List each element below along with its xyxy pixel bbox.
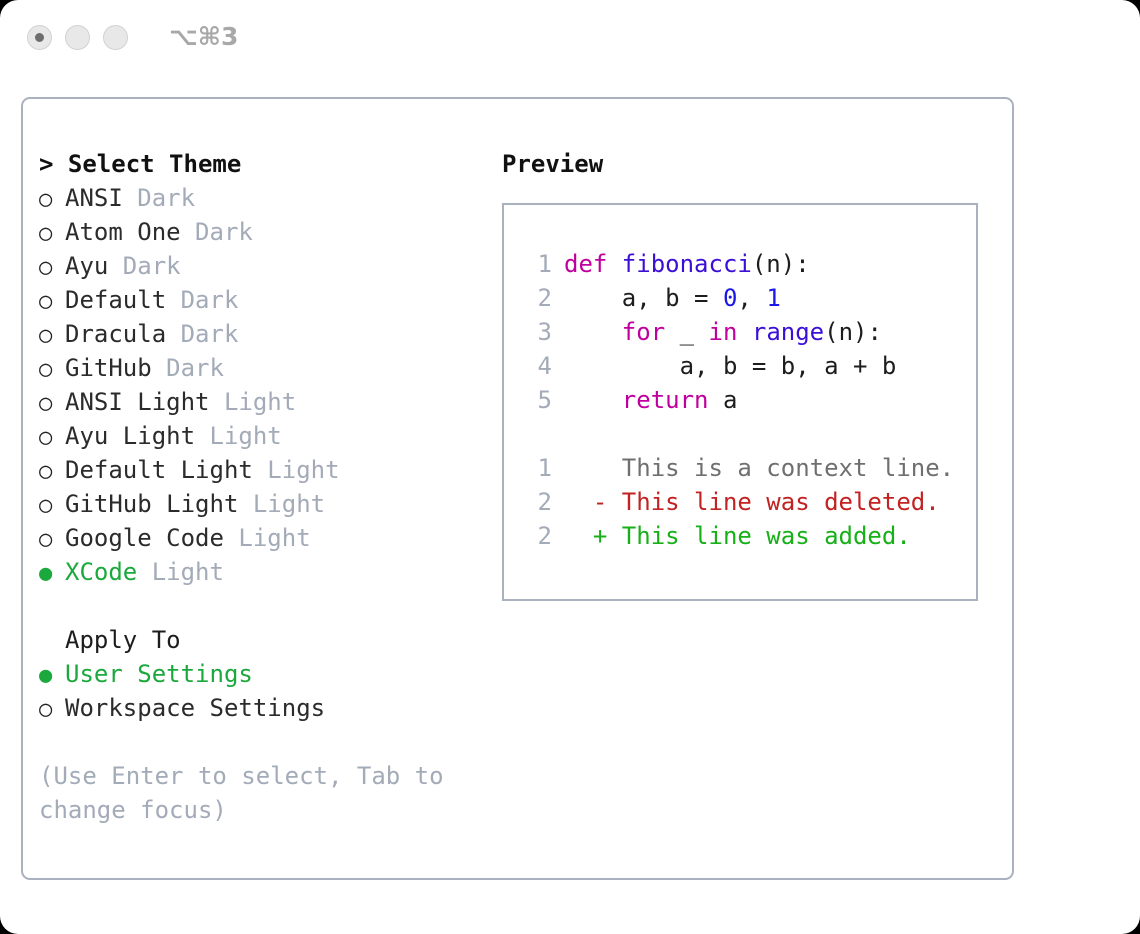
code-token: return — [564, 383, 709, 417]
theme-option-tag: Light — [253, 453, 340, 487]
radio-unselected-icon: ○ — [39, 693, 65, 727]
theme-option-tag: Light — [210, 385, 297, 419]
traffic-light-second[interactable] — [65, 25, 90, 50]
code-token: (n): — [824, 315, 882, 349]
theme-option-default-light[interactable]: ○Default Light Light — [39, 453, 479, 487]
code-line: 2 a, b = 0, 1 — [522, 281, 976, 315]
theme-option-ayu[interactable]: ○Ayu Dark — [39, 249, 479, 283]
radio-unselected-icon: ○ — [39, 183, 65, 217]
diff-marker — [564, 451, 622, 485]
code-token: 0 — [723, 281, 737, 315]
radio-unselected-icon: ○ — [39, 319, 65, 353]
radio-unselected-icon: ○ — [39, 489, 65, 523]
list-spacer — [39, 589, 479, 623]
diff-line: 1 This is a context line. — [522, 451, 976, 485]
keyboard-shortcut-label: ⌥⌘3 — [169, 22, 238, 51]
code-line-number: 4 — [522, 349, 552, 383]
diff-line-number: 2 — [522, 485, 552, 519]
code-line: 1def fibonacci(n): — [522, 247, 976, 281]
apply-to-option-list: ●User Settings○Workspace Settings — [39, 657, 479, 725]
theme-option-list: ○ANSI Dark○Atom One Dark○Ayu Dark○Defaul… — [39, 181, 479, 589]
theme-option-label: Default Light — [65, 453, 253, 487]
keyboard-hint-text: (Use Enter to select, Tab to change focu… — [39, 759, 449, 827]
theme-option-label: GitHub Light — [65, 487, 238, 521]
radio-unselected-icon: ○ — [39, 387, 65, 421]
theme-option-tag: Dark — [152, 351, 224, 385]
radio-selected-icon: ● — [39, 659, 65, 693]
theme-option-tag: Light — [224, 521, 311, 555]
theme-option-label: ANSI — [65, 181, 123, 215]
theme-option-label: Default — [65, 283, 166, 317]
theme-option-label: Atom One — [65, 215, 181, 249]
radio-unselected-icon: ○ — [39, 421, 65, 455]
apply-to-option-label: User Settings — [65, 657, 253, 691]
theme-option-ansi-light[interactable]: ○ANSI Light Light — [39, 385, 479, 419]
code-token: , — [737, 281, 766, 315]
code-line-number: 3 — [522, 315, 552, 349]
preview-title: Preview — [502, 147, 992, 181]
theme-option-tag: Dark — [181, 215, 253, 249]
diff-line: 2 + This line was added. — [522, 519, 976, 553]
preview-column: Preview 1def fibonacci(n):2 a, b = 0, 13… — [502, 147, 992, 601]
diff-marker: - — [564, 485, 622, 519]
app-window: ⌥⌘3 > Select Theme ○ANSI Dark○Atom One D… — [0, 0, 1140, 934]
theme-option-tag: Dark — [108, 249, 180, 283]
code-sample: 1def fibonacci(n):2 a, b = 0, 13 for _ i… — [522, 247, 976, 417]
traffic-light-active[interactable] — [27, 25, 52, 50]
apply-to-heading: Apply To — [39, 623, 479, 657]
diff-marker: + — [564, 519, 622, 553]
select-theme-prompt: > Select Theme — [39, 147, 479, 181]
radio-unselected-icon: ○ — [39, 353, 65, 387]
theme-option-tag: Dark — [166, 317, 238, 351]
diff-text: This line was deleted. — [622, 485, 940, 519]
traffic-light-buttons — [27, 25, 128, 50]
code-token: _ — [665, 315, 708, 349]
code-token: a, b = b, a + b — [564, 349, 896, 383]
theme-option-tag: Light — [238, 487, 325, 521]
apply-to-option-user-settings[interactable]: ●User Settings — [39, 657, 479, 691]
code-line-number: 2 — [522, 281, 552, 315]
code-line-number: 1 — [522, 247, 552, 281]
theme-option-label: ANSI Light — [65, 385, 210, 419]
theme-option-label: Ayu Light — [65, 419, 195, 453]
theme-option-ansi[interactable]: ○ANSI Dark — [39, 181, 479, 215]
code-preview-box: 1def fibonacci(n):2 a, b = 0, 13 for _ i… — [502, 203, 978, 601]
radio-unselected-icon: ○ — [39, 251, 65, 285]
theme-option-google-code[interactable]: ○Google Code Light — [39, 521, 479, 555]
code-token: 1 — [766, 281, 780, 315]
code-token: in — [709, 315, 738, 349]
code-token: a — [709, 383, 738, 417]
code-line-number: 5 — [522, 383, 552, 417]
diff-sample: 1 This is a context line.2 - This line w… — [522, 451, 976, 553]
window-titlebar: ⌥⌘3 — [0, 0, 1140, 78]
theme-option-tag: Dark — [166, 283, 238, 317]
radio-unselected-icon: ○ — [39, 455, 65, 489]
theme-option-default[interactable]: ○Default Dark — [39, 283, 479, 317]
code-token: a, b = — [564, 281, 723, 315]
code-token: for — [564, 315, 665, 349]
theme-option-dracula[interactable]: ○Dracula Dark — [39, 317, 479, 351]
code-token — [737, 315, 751, 349]
code-line: 5 return a — [522, 383, 976, 417]
theme-option-github[interactable]: ○GitHub Dark — [39, 351, 479, 385]
code-token: fibonacci — [622, 247, 752, 281]
theme-option-label: XCode — [65, 555, 137, 589]
theme-option-tag: Dark — [123, 181, 195, 215]
radio-unselected-icon: ○ — [39, 285, 65, 319]
radio-selected-icon: ● — [39, 557, 65, 591]
theme-option-tag: Light — [137, 555, 224, 589]
theme-option-label: Google Code — [65, 521, 224, 555]
theme-selector-column: > Select Theme ○ANSI Dark○Atom One Dark○… — [39, 147, 479, 827]
radio-unselected-icon: ○ — [39, 217, 65, 251]
diff-text: This is a context line. — [622, 451, 954, 485]
theme-option-atom-one[interactable]: ○Atom One Dark — [39, 215, 479, 249]
theme-option-github-light[interactable]: ○GitHub Light Light — [39, 487, 479, 521]
diff-text: This line was added. — [622, 519, 911, 553]
diff-line-number: 1 — [522, 451, 552, 485]
code-line: 4 a, b = b, a + b — [522, 349, 976, 383]
code-token: range — [752, 315, 824, 349]
apply-to-option-label: Workspace Settings — [65, 691, 325, 725]
diff-line: 2 - This line was deleted. — [522, 485, 976, 519]
theme-option-tag: Light — [195, 419, 282, 453]
theme-option-label: Dracula — [65, 317, 166, 351]
code-token: def — [564, 247, 622, 281]
theme-option-label: GitHub — [65, 351, 152, 385]
theme-option-xcode[interactable]: ●XCode Light — [39, 555, 479, 589]
radio-unselected-icon: ○ — [39, 523, 65, 557]
code-token: (n): — [752, 247, 810, 281]
main-panel: > Select Theme ○ANSI Dark○Atom One Dark○… — [21, 97, 1014, 880]
active-dot-indicator — [35, 33, 44, 42]
code-line: 3 for _ in range(n): — [522, 315, 976, 349]
theme-option-label: Ayu — [65, 249, 108, 283]
code-diff-spacer — [522, 417, 976, 451]
theme-option-ayu-light[interactable]: ○Ayu Light Light — [39, 419, 479, 453]
diff-line-number: 2 — [522, 519, 552, 553]
traffic-light-third[interactable] — [103, 25, 128, 50]
apply-to-option-workspace-settings[interactable]: ○Workspace Settings — [39, 691, 479, 725]
